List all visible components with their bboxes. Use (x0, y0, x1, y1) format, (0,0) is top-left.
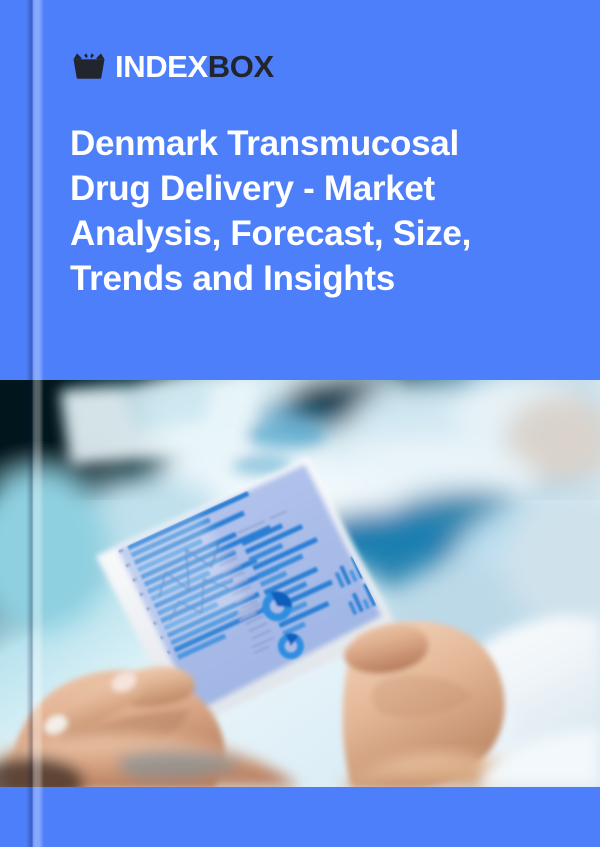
page-title: Denmark Transmucosal Drug Delivery - Mar… (70, 121, 522, 301)
title-line-4: Trends and Insights (70, 256, 522, 301)
logo-word-index: INDEX (115, 49, 208, 84)
title-line-3: Analysis, Forecast, Size, (70, 211, 522, 256)
indexbox-basket-crown-icon (72, 53, 106, 79)
tablet-analytics-photo (0, 380, 600, 787)
report-cover-poster: INDEXBOX Denmark Transmucosal Drug Deliv… (0, 0, 600, 847)
logo-word-box: BOX (208, 49, 274, 84)
title-line-1: Denmark Transmucosal (70, 121, 522, 166)
indexbox-wordmark: INDEXBOX (115, 51, 274, 82)
title-line-2: Drug Delivery - Market (70, 166, 522, 211)
indexbox-logo[interactable]: INDEXBOX (72, 46, 274, 86)
